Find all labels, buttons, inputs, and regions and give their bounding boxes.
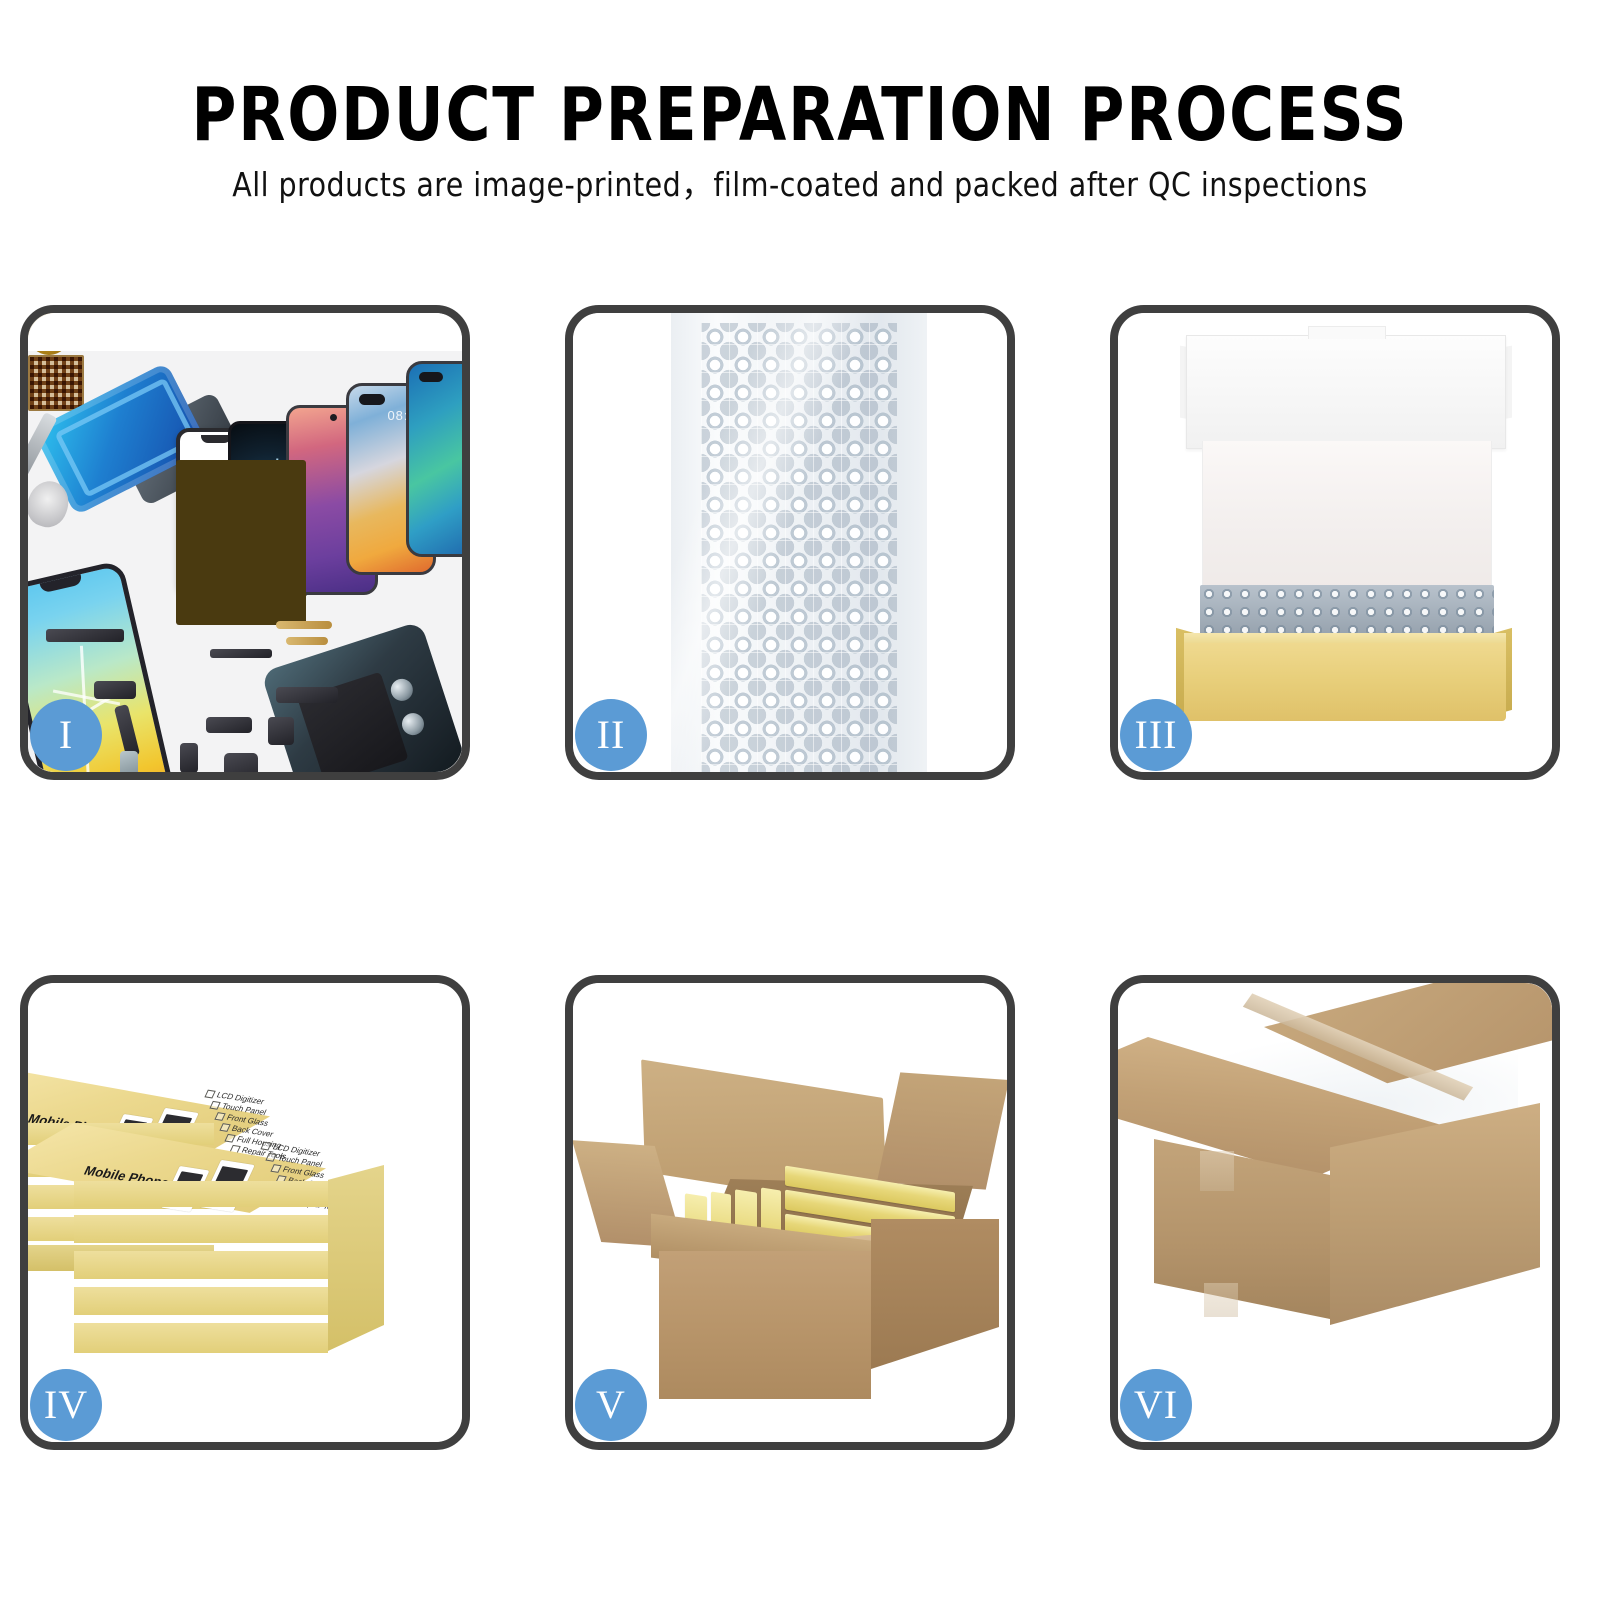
chip-component <box>206 717 252 733</box>
step-4-image: Mobile Phone Spare Parts LCD Digitizer T… <box>28 983 462 1442</box>
carton-side-right <box>871 1219 999 1369</box>
camera-module-component <box>94 681 136 699</box>
step-badge-4: IV <box>30 1369 102 1441</box>
mailer-inner-back-wall <box>1202 441 1492 591</box>
earpiece-mesh-component <box>46 629 124 642</box>
stacked-boxes-scene: Mobile Phone Spare Parts LCD Digitizer T… <box>28 983 462 1442</box>
camera-pill-icon <box>419 372 443 382</box>
step-badge-3: III <box>1120 699 1192 771</box>
page-subtitle: All products are image-printed，film-coat… <box>32 168 1568 201</box>
step-5-image <box>573 983 1007 1442</box>
flex-cable-component <box>210 649 272 658</box>
ic-chip-component <box>28 355 84 411</box>
step-badge-2: II <box>575 699 647 771</box>
box-front-face <box>74 1215 328 1243</box>
speaker-coil-component <box>28 313 70 355</box>
mailer-front-wall <box>1184 643 1506 721</box>
step-6-image <box>1118 983 1552 1442</box>
plastic-sheen-highlight <box>671 313 927 772</box>
teal-wave-phone <box>406 361 462 557</box>
carton-flap-right <box>877 1072 1007 1189</box>
flex-cable-component <box>286 637 328 645</box>
step-badge-5: V <box>575 1369 647 1441</box>
box-front-face <box>74 1287 328 1315</box>
open-carton-scene <box>573 983 1007 1442</box>
camera-lens-icon <box>387 676 415 704</box>
connector-component <box>276 687 338 703</box>
screw-set <box>28 527 68 557</box>
vibrator-component <box>224 753 258 772</box>
sim-tray-component <box>120 751 138 772</box>
bubble-wrap-scene <box>573 313 1007 772</box>
camera-lens-icon <box>399 710 427 738</box>
carton-front-face <box>659 1251 871 1399</box>
box-front-face <box>74 1251 328 1279</box>
taptic-module-component <box>268 717 294 745</box>
box-front-face <box>74 1181 328 1207</box>
step-2-image <box>573 313 1007 772</box>
packing-tape-seam-lower <box>1204 1283 1238 1317</box>
step-1-image: 08:08 <box>28 313 462 772</box>
page-header: PRODUCT PREPARATION PROCESS All products… <box>0 0 1600 250</box>
step-badge-6: VI <box>1120 1369 1192 1441</box>
parts-collage: 08:08 <box>28 313 462 772</box>
step-badge-1: I <box>30 699 102 771</box>
connector-component <box>180 743 198 772</box>
mailer-lid-flap <box>1186 335 1506 449</box>
camera-pill-icon <box>359 394 385 405</box>
sealed-carton-scene <box>1118 983 1552 1442</box>
box-front-face <box>74 1323 328 1353</box>
step-3-image <box>1118 313 1552 772</box>
mailer-box-scene <box>1118 313 1552 772</box>
packing-tape-seam-upper <box>1200 1151 1234 1191</box>
box-side-face <box>328 1165 384 1351</box>
page-title: PRODUCT PREPARATION PROCESS <box>64 78 1536 152</box>
flex-cable-component <box>276 621 332 629</box>
